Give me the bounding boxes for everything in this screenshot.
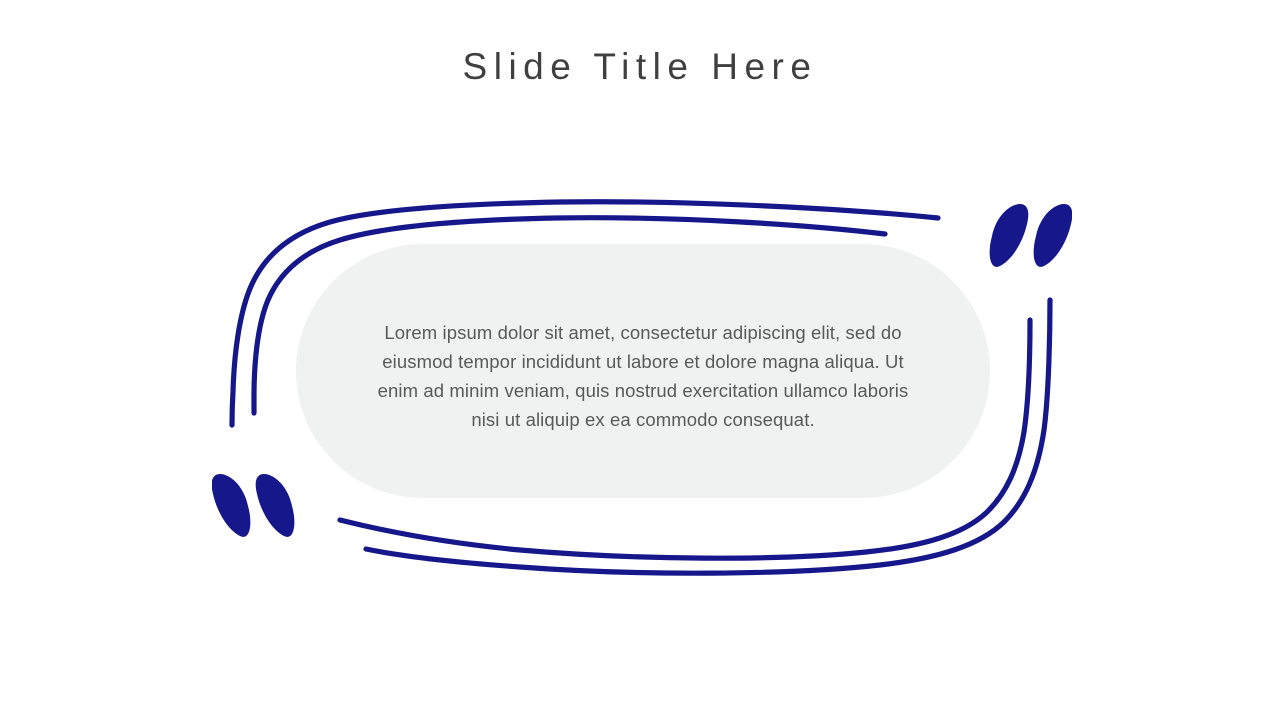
slide-canvas: Slide Title Here Lorem ipsum dolor sit a… xyxy=(0,0,1280,720)
page-title: Slide Title Here xyxy=(0,46,1280,89)
quote-text: Lorem ipsum dolor sit amet, consectetur … xyxy=(372,318,914,434)
opening-quote-icon xyxy=(212,472,298,549)
closing-quote-icon xyxy=(986,202,1072,279)
